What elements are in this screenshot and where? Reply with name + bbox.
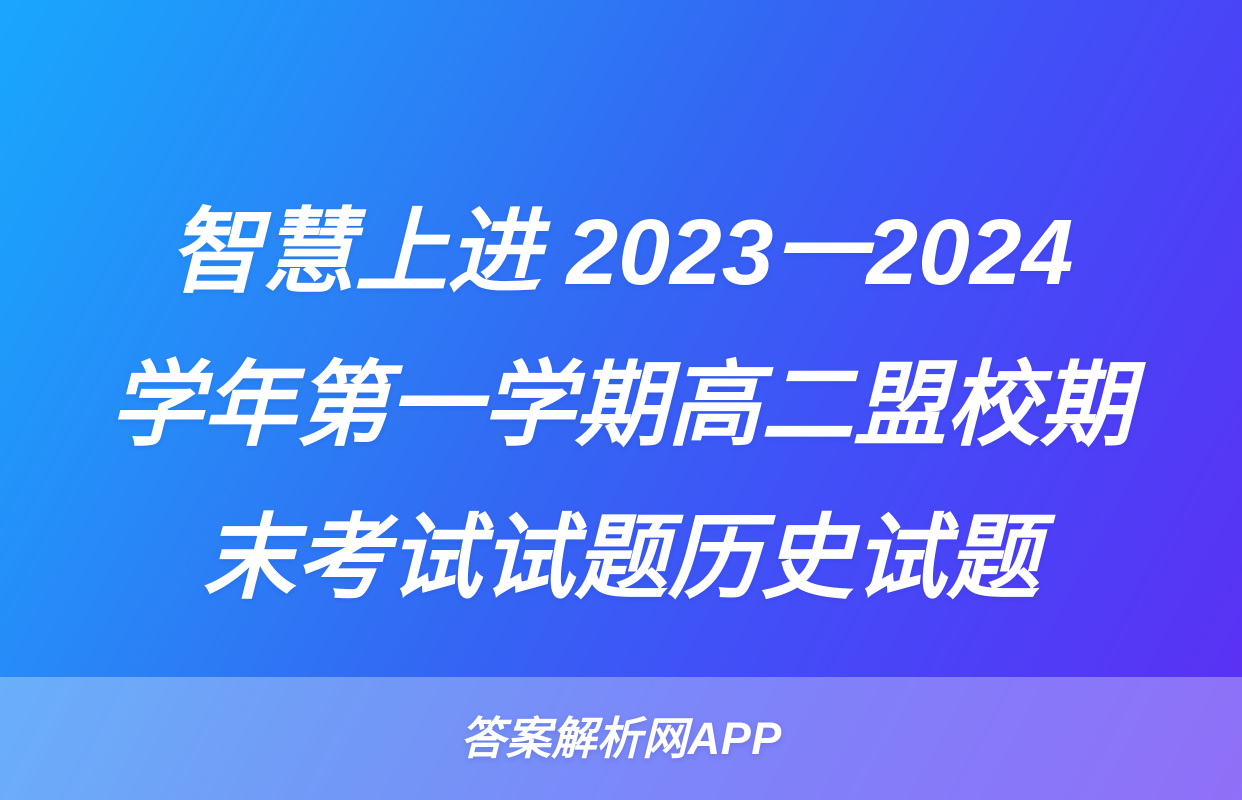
title-line-3: 末考试试题历史试题: [96, 482, 1146, 635]
footer-band: 答案解析网APP: [0, 677, 1242, 800]
poster-canvas: 智慧上进 2023一2024 学年第一学期高二盟校期 末考试试题历史试题 答案解…: [0, 0, 1242, 800]
page-title: 智慧上进 2023一2024 学年第一学期高二盟校期 末考试试题历史试题: [0, 176, 1242, 635]
title-line-1: 智慧上进 2023一2024: [96, 176, 1146, 329]
title-line-2: 学年第一学期高二盟校期: [96, 329, 1146, 482]
app-watermark: 答案解析网APP: [460, 716, 782, 761]
